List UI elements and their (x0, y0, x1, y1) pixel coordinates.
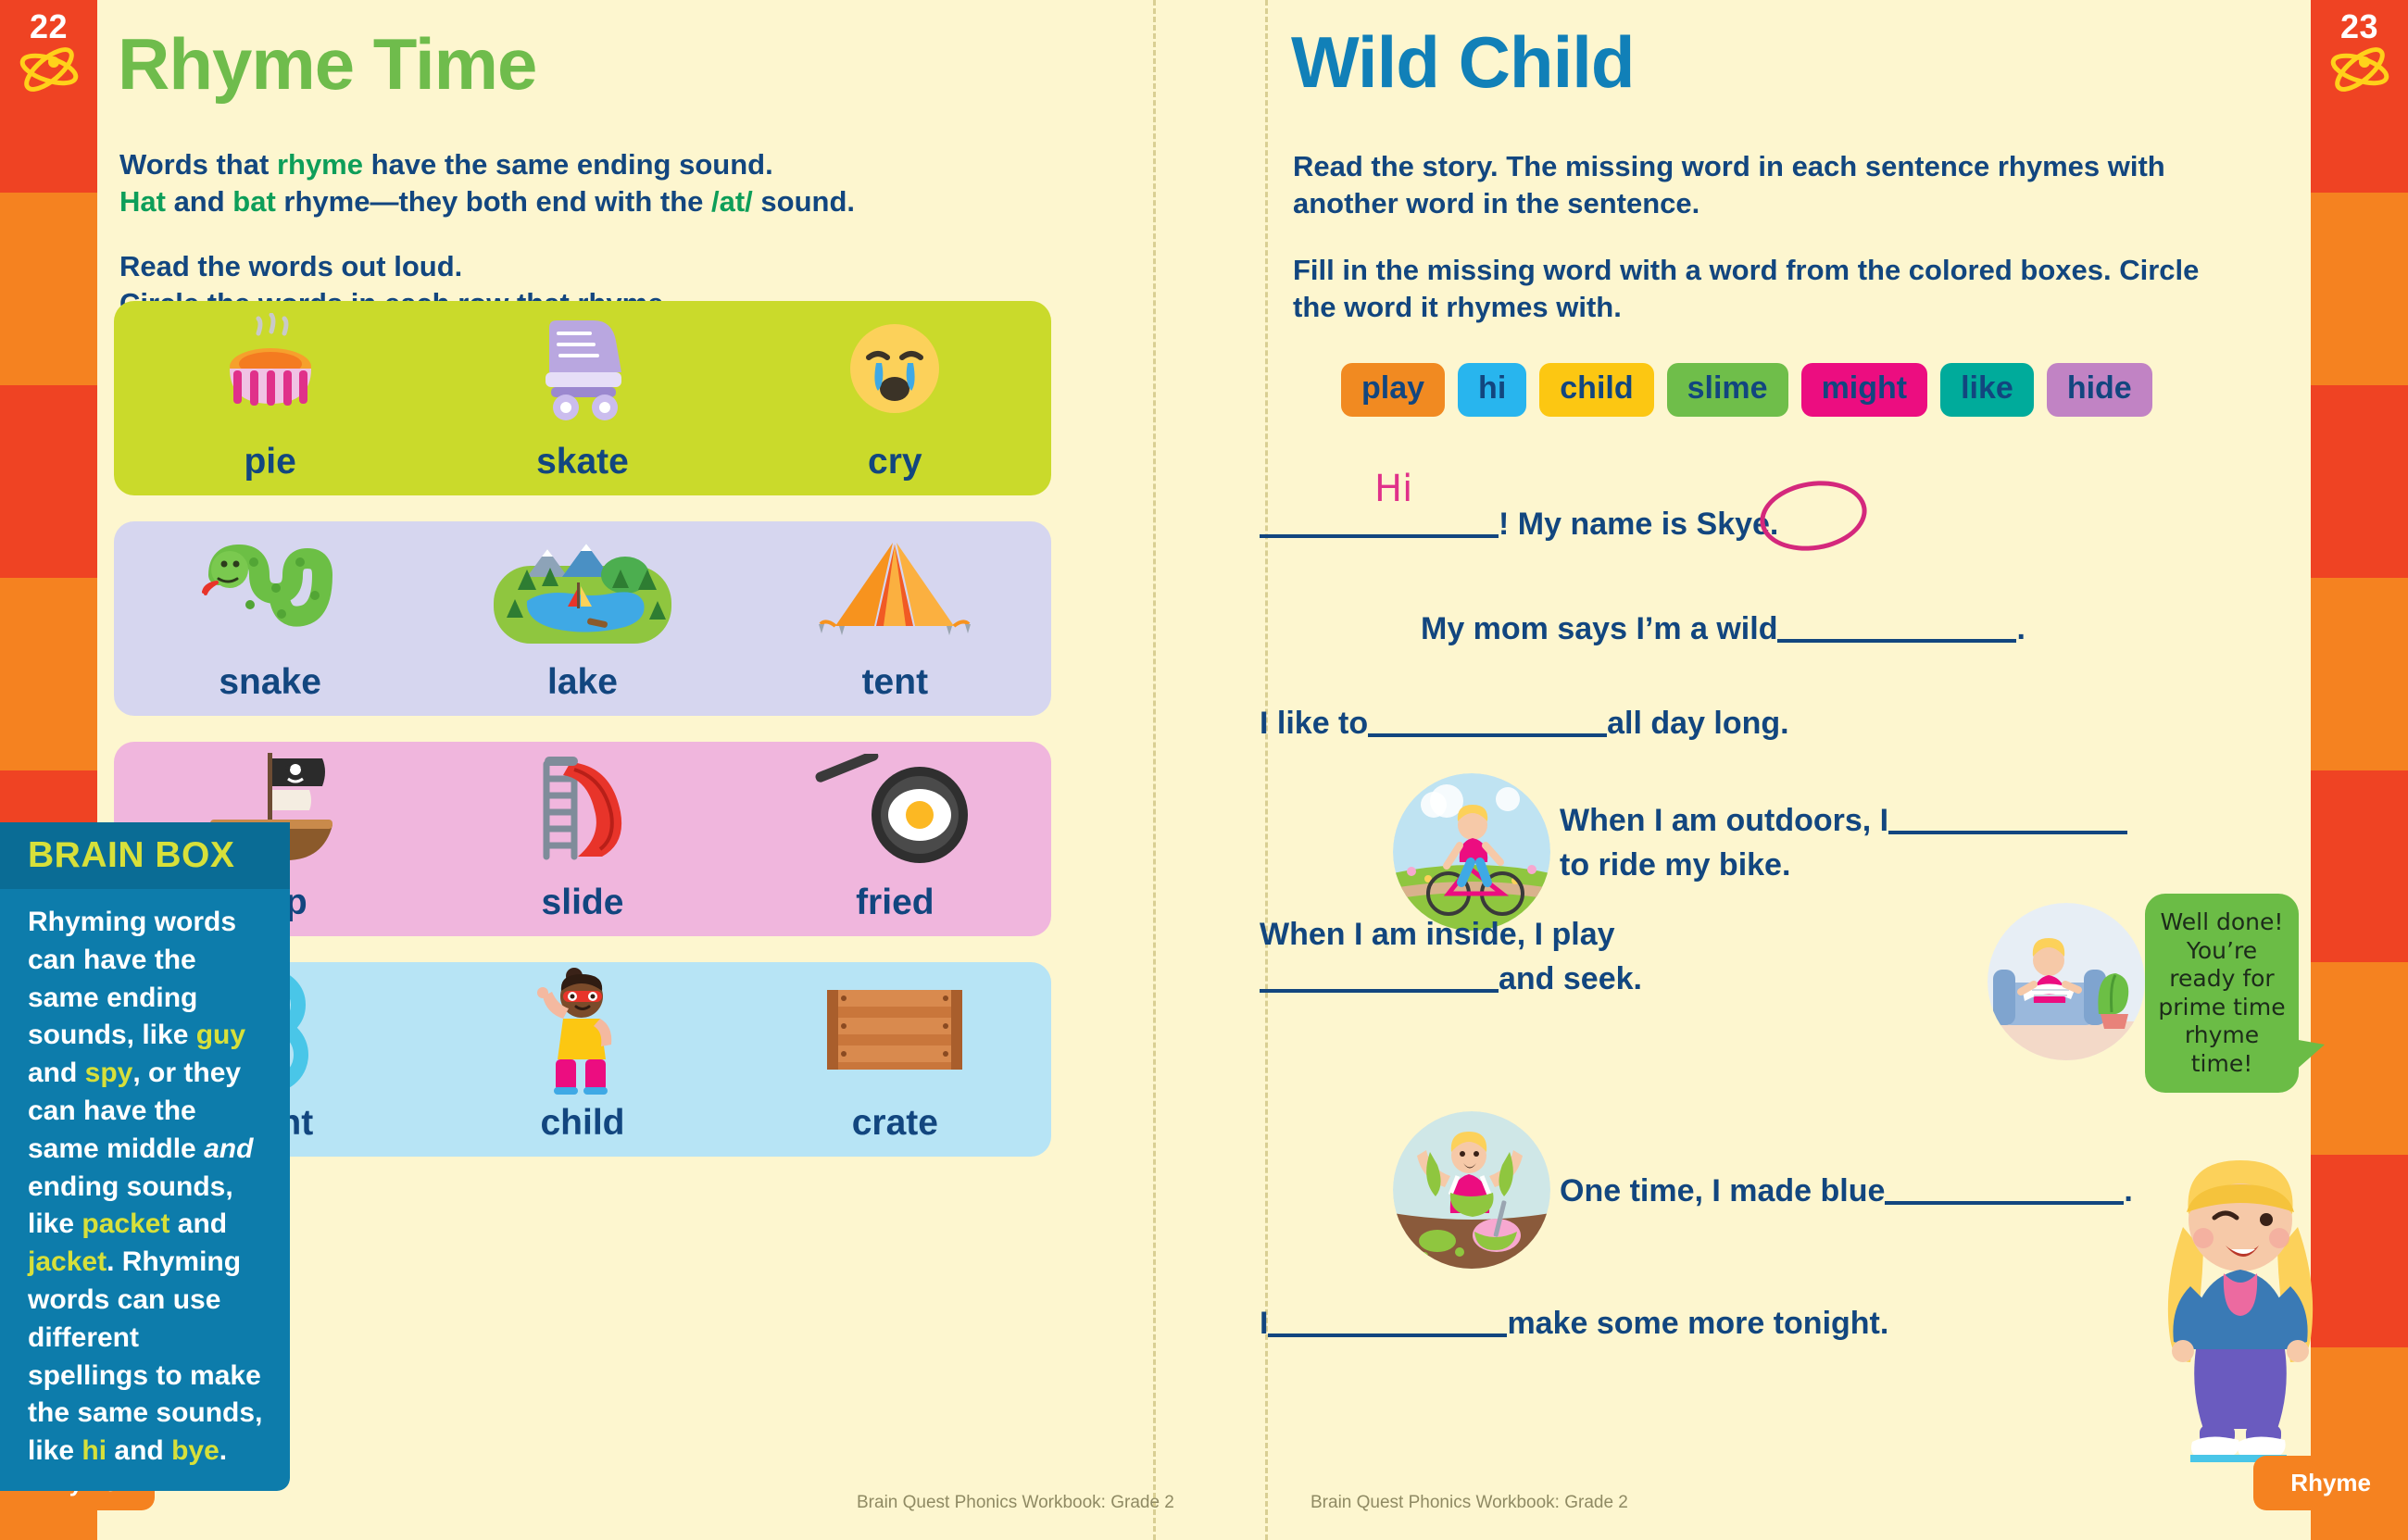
rhyme-row-2[interactable]: snake (114, 521, 1051, 716)
bb-italic-and: and (204, 1133, 253, 1164)
stripe (2311, 578, 2408, 770)
rhyme-definition: Words that rhyme have the same ending so… (119, 146, 1101, 220)
story-line-6-after: . (2124, 1173, 2132, 1208)
word-chip-child[interactable]: child (1539, 363, 1653, 417)
word-chip-hide[interactable]: hide (2047, 363, 2152, 417)
story-line-6: One time, I made blue. (1560, 1169, 2133, 1213)
bb-part: and (107, 1435, 171, 1466)
answer-blank[interactable] (1368, 704, 1607, 737)
answer-blank[interactable] (1260, 960, 1499, 994)
page-number-right: 23 (2311, 7, 2408, 46)
footer-left: Brain Quest Phonics Workbook: Grade 2 (857, 1493, 1174, 1513)
rhyme-cell[interactable]: skate (426, 301, 738, 495)
page-title: Rhyme Time (118, 28, 536, 100)
story-line-4: When I am outdoors, I to ride my bike. (1560, 798, 2264, 888)
highlight-hat: Hat (119, 185, 166, 218)
rhyme-cell[interactable]: snake (114, 521, 426, 716)
tent-icon (739, 521, 1051, 657)
section-tab-right[interactable]: Rhyme (2253, 1456, 2408, 1510)
highlight-rhyme: rhyme (277, 148, 363, 181)
story-line-5-after: and seek. (1499, 961, 1642, 996)
page-number-left: 22 (0, 7, 97, 46)
workbook-spread: 22 23 Rhyme Time Words that rhyme have t… (0, 0, 2408, 1540)
page-title: Wild Child (1291, 26, 1635, 98)
story-line-6-before: One time, I made blue (1560, 1173, 1885, 1208)
crying-face-icon (739, 301, 1051, 436)
snake-icon (114, 521, 426, 657)
rhyme-cell[interactable]: cry (739, 301, 1051, 495)
rhyme-cell[interactable]: crate (739, 962, 1051, 1157)
bb-part: and (28, 1058, 85, 1088)
rhyme-cell[interactable]: fried (739, 742, 1051, 936)
right-page: Wild Child Read the story. The missing w… (1265, 0, 2311, 1540)
atom-swirl-icon (0, 46, 97, 100)
word-label: lake (547, 662, 618, 703)
stripe (0, 193, 97, 385)
bb-highlight-guy: guy (196, 1020, 245, 1050)
story-line-1-text: ! My name is Skye. (1499, 507, 1778, 542)
answer-blank[interactable] (1777, 609, 2016, 643)
word-chip-like[interactable]: like (1940, 363, 2034, 417)
story-line-4-before: When I am outdoors, I (1560, 803, 1888, 838)
stripe (2311, 962, 2408, 1155)
word-chip-play[interactable]: play (1341, 363, 1445, 417)
stripe (2311, 770, 2408, 963)
girl-on-bike-illustration (1393, 773, 1550, 931)
highlight-bat: bat (232, 185, 276, 218)
story-line-7-before: I (1260, 1306, 1268, 1341)
story-line-2-before: My mom says I’m a wild (1421, 611, 1777, 646)
word-label: tent (862, 662, 929, 703)
story-line-5: When I am inside, I play and seek. (1260, 912, 1741, 1002)
answer-blank[interactable] (1268, 1304, 1507, 1337)
rhyme-cell[interactable]: tent (739, 521, 1051, 716)
word-chip-might[interactable]: might (1801, 363, 1928, 417)
pie-icon (114, 301, 426, 436)
stripe (0, 578, 97, 770)
word-label: slide (542, 883, 624, 923)
right-instruction-2: Fill in the missing word with a word fro… (1293, 252, 2228, 326)
word-label: child (540, 1103, 624, 1144)
story-line-2-after: . (2016, 611, 2025, 646)
wooden-crate-icon (739, 962, 1051, 1097)
rhyme-row-1[interactable]: pie (114, 301, 1051, 495)
bb-highlight-hi: hi (82, 1435, 107, 1466)
stripe (2311, 385, 2408, 578)
brain-box-heading: BRAIN BOX (0, 822, 290, 889)
bb-highlight-packet: packet (82, 1208, 169, 1239)
story-line-5-before: When I am inside, I play (1260, 917, 1615, 952)
bb-part: . (219, 1435, 227, 1466)
word-label: snake (219, 662, 321, 703)
roller-skate-icon (426, 301, 738, 436)
footer-right: Brain Quest Phonics Workbook: Grade 2 (1311, 1493, 1628, 1513)
word-chip-slime[interactable]: slime (1667, 363, 1788, 417)
speech-bubble: Well done! You’re ready for prime time r… (2145, 894, 2299, 1093)
rhyme-cell[interactable]: pie (114, 301, 426, 495)
intro-text-c: have the same ending sound. (363, 148, 773, 181)
story-line-3-after: all day long. (1607, 706, 1788, 741)
lake-icon (426, 521, 738, 657)
intro-tail: rhyme—they both end with the (276, 185, 711, 218)
answer-blank[interactable] (1888, 801, 2127, 834)
story-line-2: My mom says I’m a wild. (1421, 607, 2025, 651)
rhyme-cell[interactable]: slide (426, 742, 738, 936)
word-label: crate (852, 1103, 938, 1144)
bb-highlight-bye: bye (171, 1435, 219, 1466)
atom-swirl-icon (2311, 46, 2408, 100)
word-label: fried (856, 883, 934, 923)
bb-part: and (169, 1208, 227, 1239)
highlight-at-sound: /at/ (711, 185, 753, 218)
answer-blank[interactable] (1260, 505, 1499, 538)
bb-highlight-spy: spy (85, 1058, 133, 1088)
girl-mascot-illustration (2135, 1160, 2348, 1471)
right-instruction-1: Read the story. The missing word in each… (1293, 148, 2228, 222)
stripe (0, 385, 97, 578)
word-chip-hi[interactable]: hi (1458, 363, 1526, 417)
word-label: skate (536, 442, 629, 482)
story-line-4-after: to ride my bike. (1560, 847, 1790, 883)
brain-box: BRAIN BOX Rhyming words can have the sam… (0, 822, 290, 1491)
intro-end: sound. (753, 185, 855, 218)
story-line-1: ! My name is Skye. (1260, 502, 1778, 546)
playground-slide-icon (426, 742, 738, 877)
bb-part: . Rhyming words can use different spelli… (28, 1246, 262, 1466)
intro-and: and (166, 185, 232, 218)
stripe (2311, 193, 2408, 385)
instruction-line-1: Read the words out loud. (119, 250, 462, 282)
story-line-3: I like toall day long. (1260, 701, 1789, 745)
gutter-fold-line (1153, 0, 1156, 1540)
rhyme-cell[interactable]: lake (426, 521, 738, 716)
intro-text-a: Words that (119, 148, 277, 181)
frying-pan-egg-icon (739, 742, 1051, 877)
girl-making-slime-illustration (1393, 1111, 1550, 1269)
word-bank: play hi child slime might like hide (1341, 363, 2152, 417)
rhyme-cell[interactable]: child (426, 962, 738, 1157)
story-line-7: Imake some more tonight. (1260, 1301, 1888, 1346)
girl-reading-on-couch-illustration (1988, 903, 2145, 1060)
story-line-7-after: make some more tonight. (1507, 1306, 1888, 1341)
brain-box-text: Rhyming words can have the same ending s… (0, 889, 290, 1471)
word-label: pie (244, 442, 295, 482)
child-icon (426, 962, 738, 1097)
bb-highlight-jacket: jacket (28, 1246, 107, 1277)
answer-blank[interactable] (1885, 1171, 2124, 1205)
word-label: cry (868, 442, 922, 482)
story-line-3-before: I like to (1260, 706, 1368, 741)
